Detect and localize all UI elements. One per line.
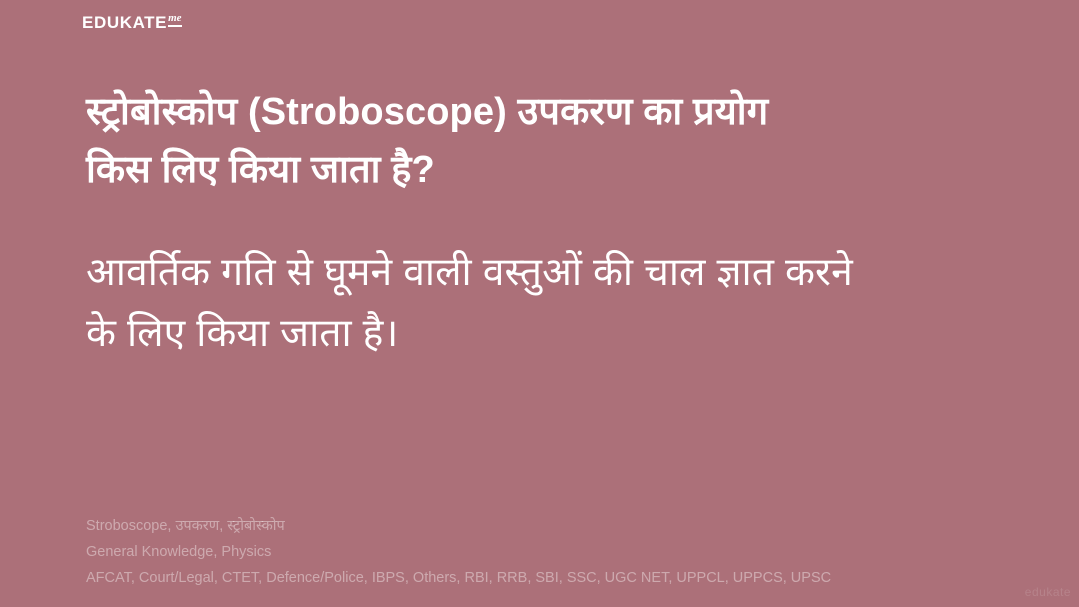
answer-line-1: आवर्तिक गति से घूमने वाली वस्तुओं की चाल… xyxy=(86,251,853,294)
edukate-logo[interactable]: EDUKATE me xyxy=(82,14,182,31)
question-slide: EDUKATE me स्ट्रोबोस्कोप (Stroboscope) उ… xyxy=(0,0,1079,607)
footer-tags: Stroboscope, उपकरण, स्ट्रोबोस्कोप xyxy=(86,513,986,539)
question-line-2: किस लिए किया जाता है? xyxy=(86,149,435,191)
footer-exams: AFCAT, Court/Legal, CTET, Defence/Police… xyxy=(86,565,986,591)
footer-subjects: General Knowledge, Physics xyxy=(86,539,986,565)
answer-line-2: के लिए किया जाता है। xyxy=(86,312,398,355)
footer-metadata: Stroboscope, उपकरण, स्ट्रोबोस्कोप Genera… xyxy=(86,513,986,591)
brand-wordmark: EDUKATE xyxy=(82,14,167,31)
corner-watermark: edukate xyxy=(1025,585,1071,599)
answer-text: आवर्तिक गति से घूमने वाली वस्तुओं की चाल… xyxy=(86,243,1001,365)
question-heading: स्ट्रोबोस्कोप (Stroboscope) उपकरण का प्र… xyxy=(86,84,1006,200)
brand-suffix: me xyxy=(168,13,181,27)
question-line-1: स्ट्रोबोस्कोप (Stroboscope) उपकरण का प्र… xyxy=(86,91,768,133)
